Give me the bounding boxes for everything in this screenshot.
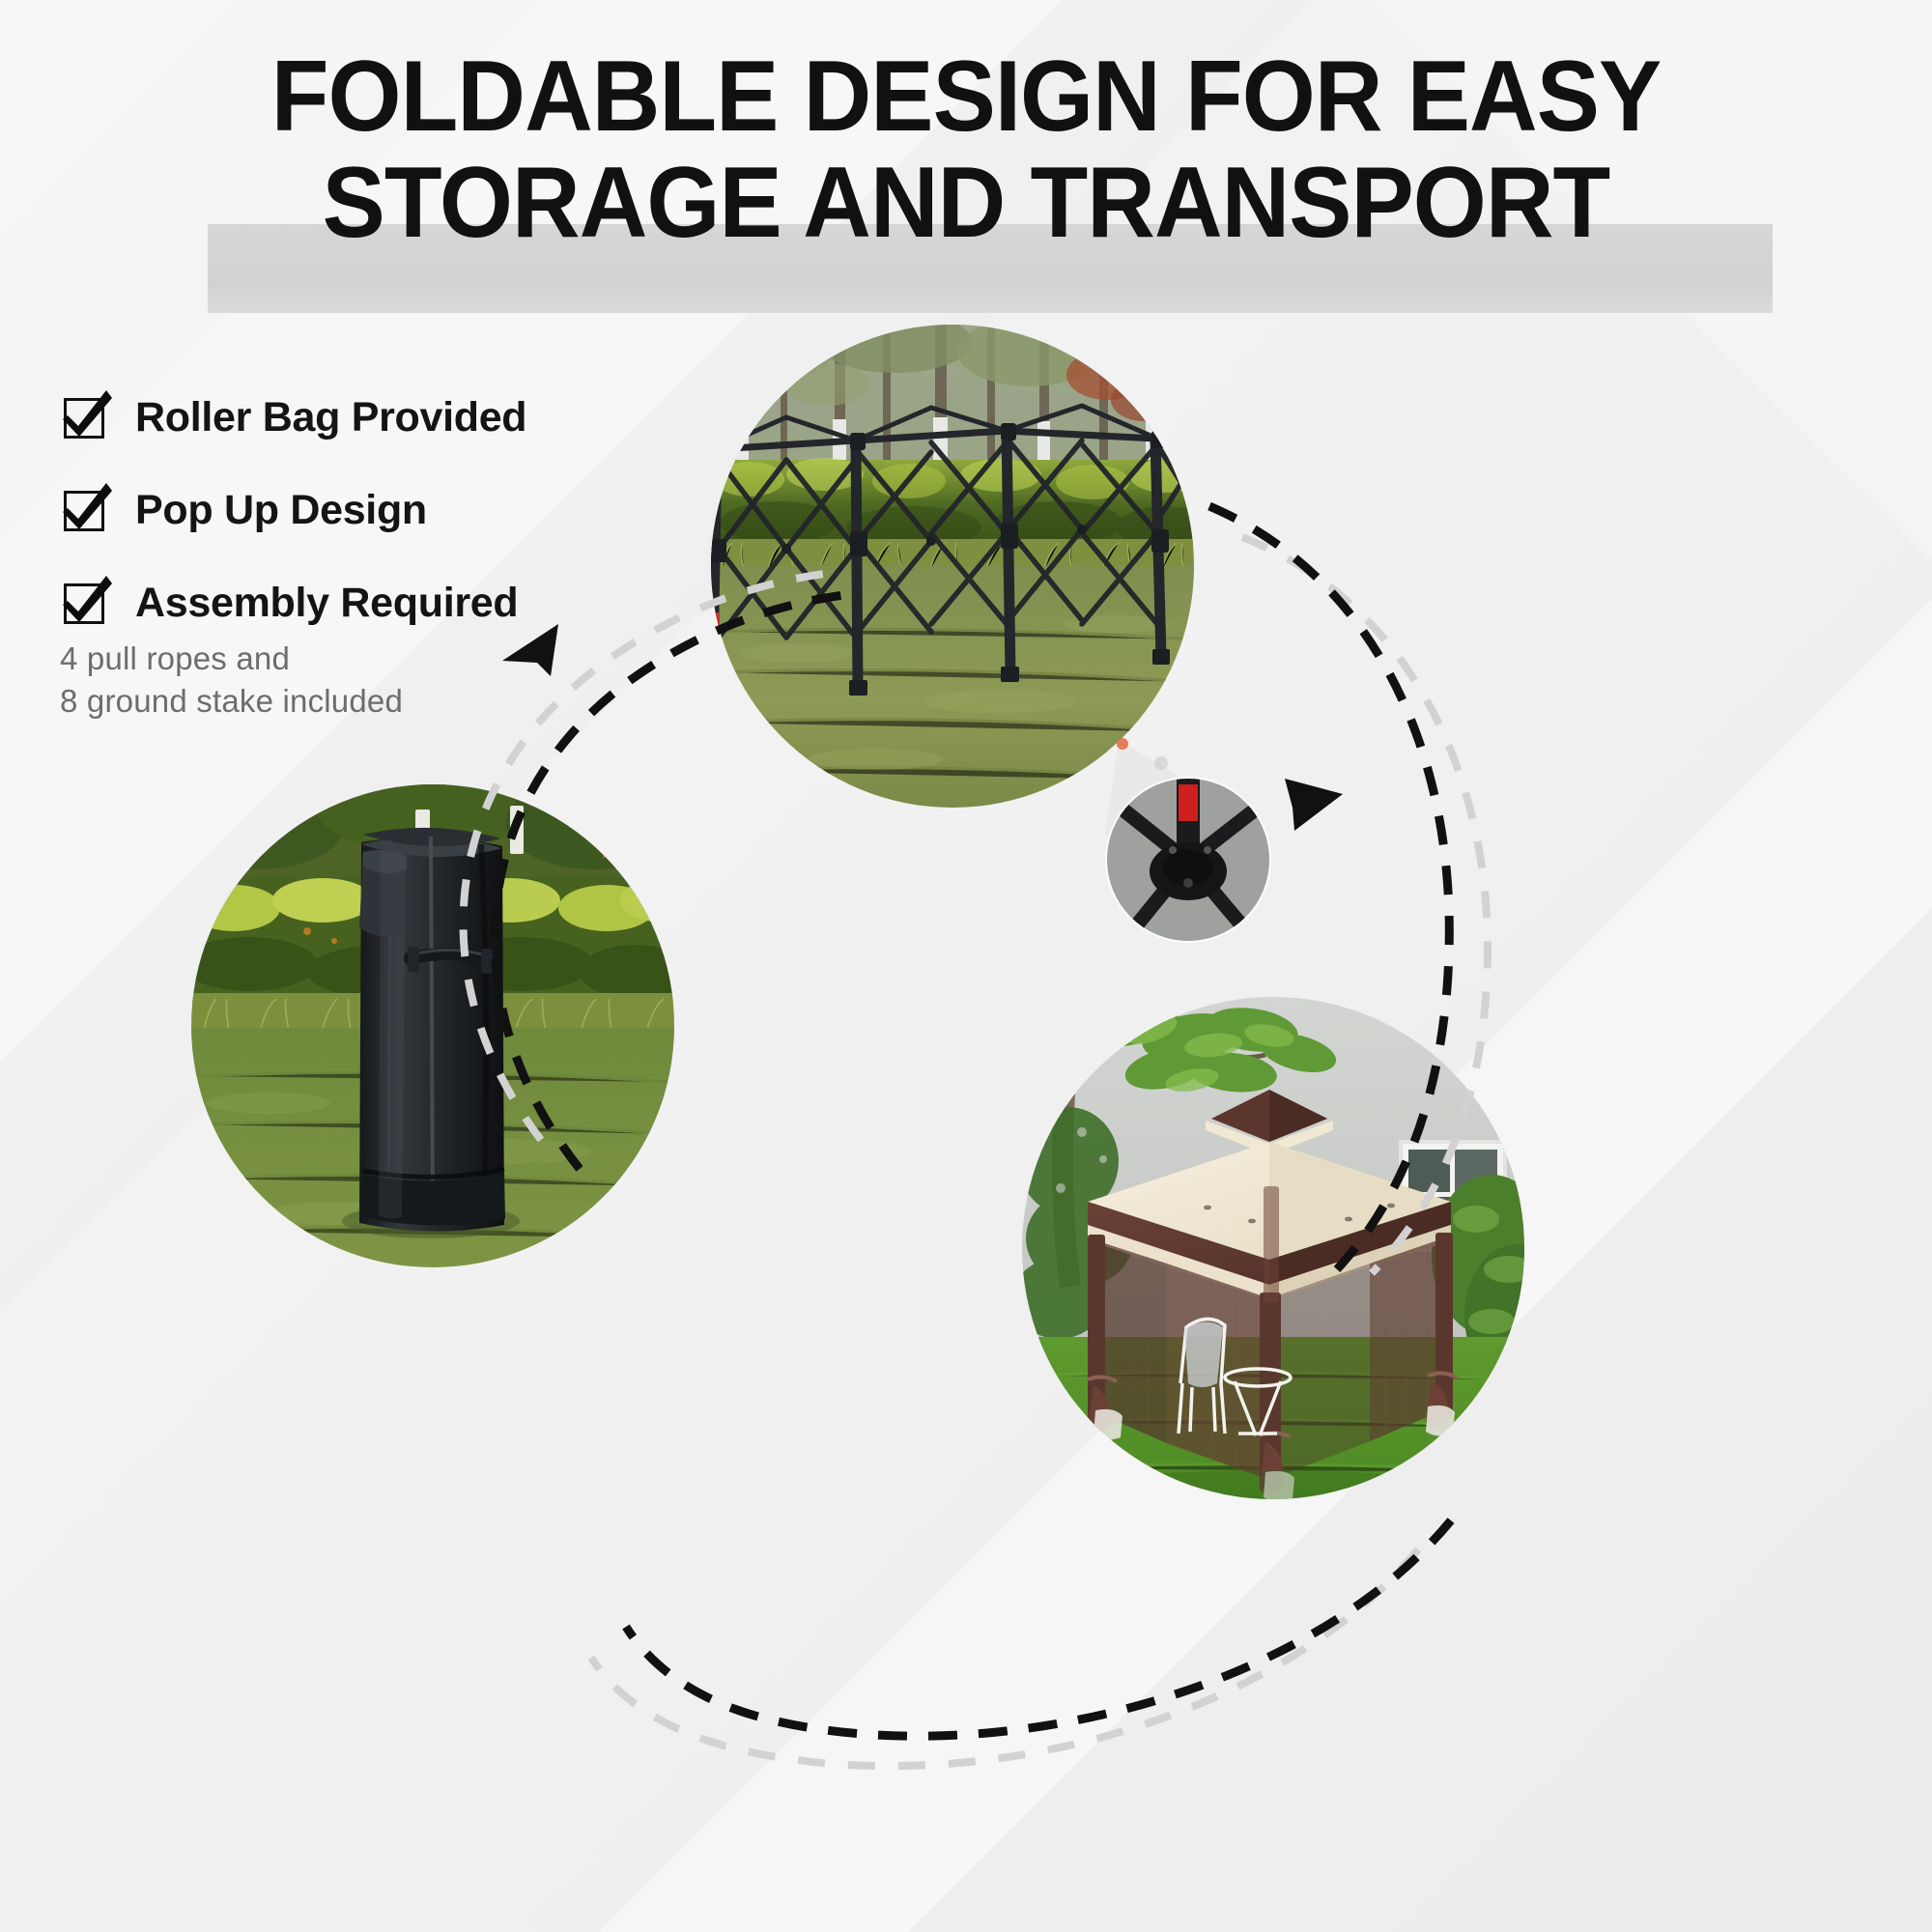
note-line-1: 4 pull ropes and <box>60 638 403 680</box>
title-line-1: FOLDABLE DESIGN FOR EASY <box>58 46 1874 147</box>
checkbox-checked-icon <box>58 390 112 444</box>
page-title: FOLDABLE DESIGN FOR EASY STORAGE AND TRA… <box>0 46 1932 253</box>
feature-label: Assembly Required <box>135 580 518 627</box>
feature-item: Roller Bag Provided <box>58 383 526 452</box>
photo-assembled-gazebo <box>1022 997 1524 1499</box>
checkbox-checked-icon <box>58 483 112 537</box>
photo-roller-bag <box>191 784 674 1267</box>
photo-leg-hub-detail <box>1107 779 1269 941</box>
feature-item: Assembly Required <box>58 568 526 638</box>
feature-list: Roller Bag Provided Pop Up Design Assemb… <box>58 383 526 661</box>
accessories-note: 4 pull ropes and 8 ground stake included <box>60 638 403 722</box>
feature-label: Pop Up Design <box>135 487 427 534</box>
feature-item: Pop Up Design <box>58 475 526 545</box>
title-line-2: STORAGE AND TRANSPORT <box>58 153 1874 253</box>
feature-label: Roller Bag Provided <box>135 394 526 441</box>
note-line-2: 8 ground stake included <box>60 680 403 723</box>
checkbox-checked-icon <box>58 576 112 630</box>
